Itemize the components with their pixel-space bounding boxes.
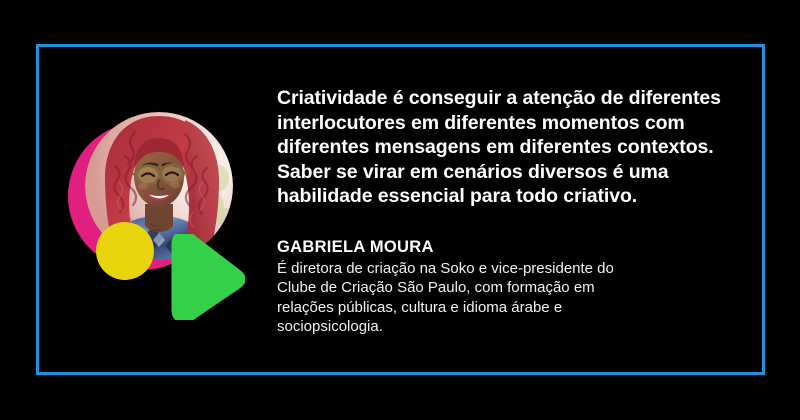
bio-line: sociopsicologia. bbox=[277, 317, 747, 337]
quote-line: interlocutores em diferentes momentos co… bbox=[277, 111, 747, 136]
quote-text: Criatividade é conseguir a atenção de di… bbox=[277, 86, 747, 209]
play-triangle-icon bbox=[167, 234, 245, 320]
bio-line: Clube de Criação São Paulo, com formação… bbox=[277, 278, 747, 298]
quote-line: diferentes mensagens em diferentes conte… bbox=[277, 135, 747, 160]
quote-line: habilidade essencial para todo criativo. bbox=[277, 184, 747, 209]
bio-line: É diretora de criação na Soko e vice-pre… bbox=[277, 259, 747, 279]
yellow-circle-accent bbox=[96, 222, 154, 280]
person-name: GABRIELA MOURA bbox=[277, 237, 747, 257]
quote-card: Criatividade é conseguir a atenção de di… bbox=[0, 0, 800, 420]
quote-line: Criatividade é conseguir a atenção de di… bbox=[277, 86, 747, 111]
graphic-cluster bbox=[0, 0, 300, 420]
text-column: Criatividade é conseguir a atenção de di… bbox=[277, 86, 747, 337]
attribution-block: GABRIELA MOURA É diretora de criação na … bbox=[277, 237, 747, 337]
quote-line: Saber se virar em cenários diversos é um… bbox=[277, 160, 747, 185]
bio-line: relações públicas, cultura e idioma árab… bbox=[277, 298, 747, 318]
person-bio: É diretora de criação na Soko e vice-pre… bbox=[277, 259, 747, 337]
